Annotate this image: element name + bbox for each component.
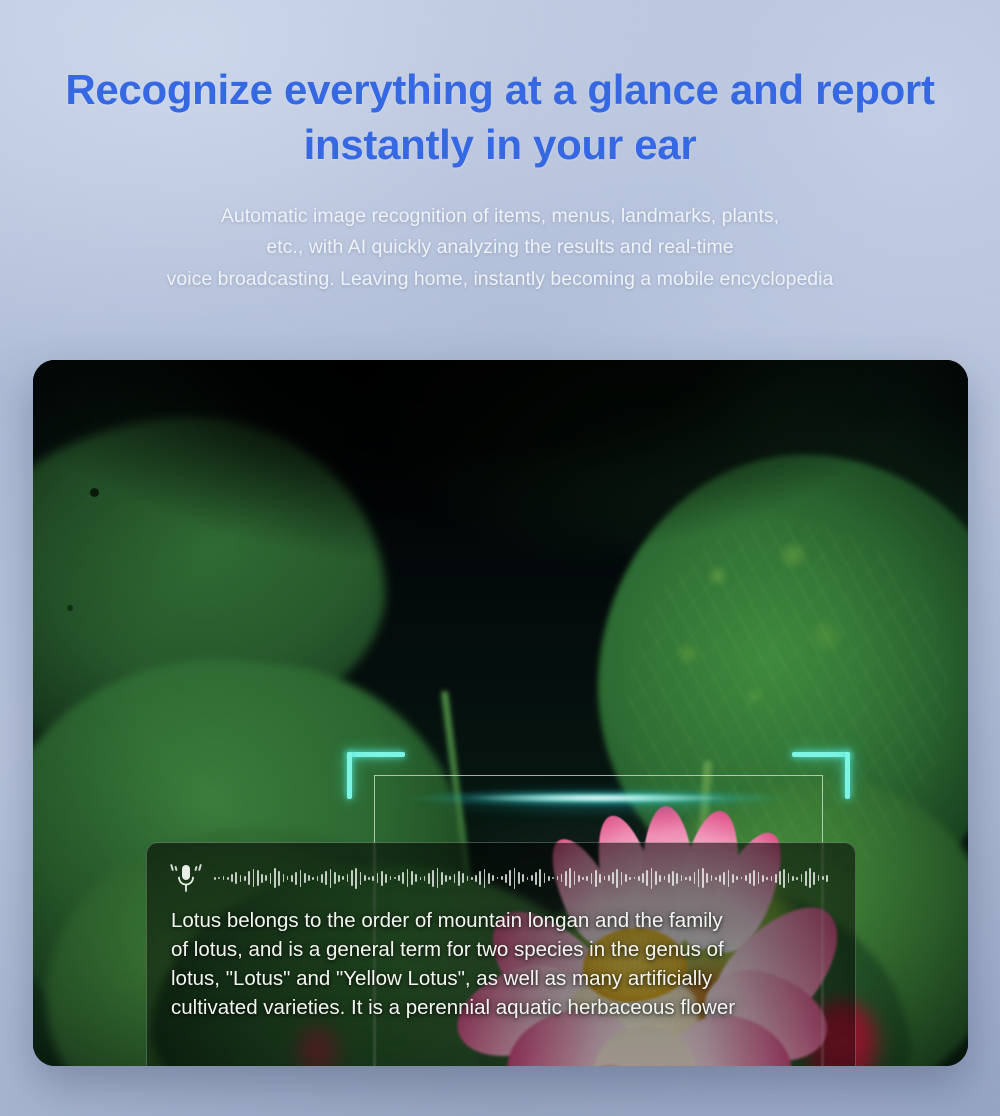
waveform-bar	[625, 874, 627, 882]
waveform-bar	[253, 869, 255, 887]
scan-corner-top-left-icon	[347, 752, 405, 799]
waveform-bar	[557, 876, 559, 880]
waveform-bar	[368, 877, 370, 880]
waveform-bar	[411, 871, 413, 885]
waveform-bar	[582, 877, 584, 880]
waveform-bar	[479, 871, 481, 885]
waveform-bar	[441, 872, 443, 885]
waveform-bar	[548, 876, 550, 881]
waveform-bar	[685, 877, 687, 880]
waveform-bar	[257, 870, 259, 886]
waveform-bar	[736, 876, 738, 880]
waveform-bar	[304, 873, 306, 883]
waveform-bar	[813, 872, 815, 885]
waveform-bar	[437, 868, 439, 888]
waveform-bar	[231, 874, 233, 882]
waveform-bar	[646, 870, 648, 886]
waveform-bar	[338, 875, 340, 882]
page-title: Recognize everything at a glance and rep…	[0, 62, 1000, 173]
waveform-bar	[741, 877, 743, 879]
waveform-bar	[565, 871, 567, 886]
waveform-bar	[351, 870, 353, 886]
waveform-bar	[715, 877, 717, 880]
waveform-bar	[634, 877, 636, 879]
waveform-bar	[608, 875, 610, 881]
waveform-bar	[240, 875, 242, 882]
waveform-bar	[501, 876, 503, 880]
waveform-bar	[762, 875, 764, 882]
waveform-bar	[458, 871, 460, 886]
waveform-bar	[659, 875, 661, 882]
waveform-bar	[415, 874, 417, 882]
waveform-bar	[497, 877, 499, 879]
waveform-bar	[569, 868, 571, 888]
waveform-bar	[330, 869, 332, 888]
waveform-bar	[728, 870, 730, 887]
waveform-bar	[325, 871, 327, 885]
waveform-bar	[261, 874, 263, 883]
waveform-bar	[664, 876, 666, 880]
waveform-bar	[385, 874, 387, 883]
waveform-bar	[706, 873, 708, 883]
page-subtitle: Automatic image recognition of items, me…	[0, 201, 1000, 296]
waveform-bar	[531, 875, 533, 881]
waveform-bar	[445, 875, 447, 882]
waveform-bar	[612, 872, 614, 884]
subtitle-line: etc., with AI quickly analyzing the resu…	[70, 232, 930, 264]
waveform-bar	[792, 876, 794, 881]
waveform-bar	[818, 875, 820, 881]
waveform-bar	[334, 872, 336, 884]
waveform-bar	[364, 875, 366, 881]
waveform-bar	[312, 877, 314, 880]
waveform-bar	[308, 875, 310, 881]
waveform-bar	[801, 874, 803, 882]
waveform-bar	[449, 876, 451, 880]
waveform-bar	[676, 873, 678, 884]
waveform-bar	[805, 871, 807, 886]
waveform-bar	[514, 868, 516, 889]
waveform-bar	[758, 872, 760, 884]
voice-result-panel[interactable]: Lotus belongs to the order of mountain l…	[146, 842, 856, 1066]
waveform-bar	[505, 874, 507, 883]
waveform-bar	[214, 877, 216, 880]
waveform-bar	[749, 873, 751, 884]
waveform-bar	[711, 875, 713, 881]
waveform-bar	[745, 875, 747, 881]
waveform-bar	[484, 869, 486, 888]
waveform-bar	[779, 871, 781, 885]
waveform-bar	[574, 871, 576, 885]
waveform-bar	[518, 872, 520, 884]
waveform-bar	[775, 874, 777, 883]
waveform-bar	[372, 876, 374, 881]
waveform-bar	[668, 874, 670, 883]
waveform-bar	[467, 876, 469, 881]
waveform-bar	[638, 876, 640, 881]
waveform-bar	[274, 868, 276, 888]
waveform-bar	[317, 876, 319, 881]
waveform-bar	[561, 874, 563, 882]
waveform-bar	[766, 877, 768, 880]
hero-section: Recognize everything at a glance and rep…	[0, 0, 1000, 296]
waveform-bar	[407, 869, 409, 887]
mic-sound-tick	[198, 864, 202, 871]
microphone-icon[interactable]	[171, 861, 201, 895]
waveform-bar	[822, 876, 824, 880]
waveform-bar	[599, 874, 601, 883]
subtitle-line: voice broadcasting. Leaving home, instan…	[70, 264, 930, 296]
waveform-bar	[471, 877, 473, 880]
waveform-bar	[595, 870, 597, 887]
waveform-bar	[248, 871, 250, 885]
waveform-bar	[424, 876, 426, 881]
waveform-bar	[732, 874, 734, 883]
scan-beam	[375, 787, 822, 809]
waveform-bar	[432, 870, 434, 887]
result-line: cultivated varieties. It is a perennial …	[171, 993, 829, 1022]
waveform-bar	[287, 876, 289, 880]
waveform-bar	[295, 872, 297, 885]
waveform-bar	[651, 868, 653, 889]
waveform-bar	[698, 869, 700, 887]
waveform-bar	[535, 872, 537, 885]
waveform-bar	[552, 877, 554, 879]
waveform-bar	[591, 873, 593, 884]
waveform-bar	[527, 877, 529, 880]
waveform-bar	[265, 875, 267, 881]
waveform-bar	[616, 869, 618, 888]
scan-corner-top-right-icon	[792, 752, 850, 799]
waveform-bar	[428, 873, 430, 884]
waveform-bar	[244, 876, 246, 881]
waveform-bar	[771, 876, 773, 881]
waveform-bar	[492, 875, 494, 881]
waveform-bar	[672, 871, 674, 886]
waveform-bar	[454, 874, 456, 883]
waveform-bar	[218, 877, 220, 879]
waveform-bar	[488, 873, 490, 884]
waveform-bar	[621, 872, 623, 885]
waveform-bar	[796, 877, 798, 880]
recognition-result-text: Lotus belongs to the order of mountain l…	[171, 906, 829, 1022]
waveform-bar	[809, 868, 811, 888]
waveform-bar	[689, 876, 691, 881]
waveform-bar	[420, 877, 422, 880]
waveform-bar	[544, 873, 546, 883]
waveform-bar	[629, 877, 631, 880]
waveform-bar	[522, 874, 524, 882]
waveform-bar	[235, 872, 237, 884]
waveform-bar	[360, 872, 362, 885]
waveform-bar	[321, 874, 323, 883]
waveform-bar	[270, 873, 272, 884]
waveform-bar	[283, 874, 285, 882]
waveform-bar	[377, 873, 379, 883]
waveform-bar	[381, 871, 383, 886]
waveform-bar	[402, 872, 404, 884]
waveform-bar	[586, 876, 588, 881]
result-line: Lotus belongs to the order of mountain l…	[171, 906, 829, 935]
result-line: of lotus, and is a general term for two …	[171, 935, 829, 964]
waveform-bar	[291, 875, 293, 882]
waveform-bar	[347, 874, 349, 882]
waveform-bar	[642, 873, 644, 883]
audio-waveform	[214, 865, 829, 891]
waveform-bar	[342, 876, 344, 880]
waveform-bar	[753, 870, 755, 886]
waveform-bar	[227, 877, 229, 880]
waveform-bar	[655, 871, 657, 885]
waveform-bar	[539, 869, 541, 887]
waveform-bar	[462, 873, 464, 883]
photo-card[interactable]: Lotus belongs to the order of mountain l…	[33, 360, 968, 1066]
waveform-bar	[390, 876, 392, 880]
waveform-bar	[578, 875, 580, 882]
waveform-bar	[788, 873, 790, 883]
waveform-bar	[223, 876, 225, 880]
waveform-bar	[681, 875, 683, 881]
waveform-bar	[723, 872, 725, 885]
waveform-bar	[398, 875, 400, 881]
waveform-bar	[604, 876, 606, 880]
waveform-bar	[783, 869, 785, 888]
waveform-bar	[694, 872, 696, 884]
waveform-bar	[475, 875, 477, 882]
voice-activity-row	[171, 861, 829, 895]
waveform-bar	[355, 868, 357, 889]
waveform-bar	[509, 870, 511, 886]
waveform-bar	[719, 875, 721, 882]
waveform-bar	[702, 868, 704, 888]
result-line: lotus, "Lotus" and "Yellow Lotus", as we…	[171, 964, 829, 993]
subtitle-line: Automatic image recognition of items, me…	[70, 201, 930, 233]
waveform-bar	[300, 870, 302, 887]
waveform-bar	[826, 875, 828, 882]
waveform-bar	[394, 877, 396, 879]
waveform-bar	[278, 871, 280, 886]
